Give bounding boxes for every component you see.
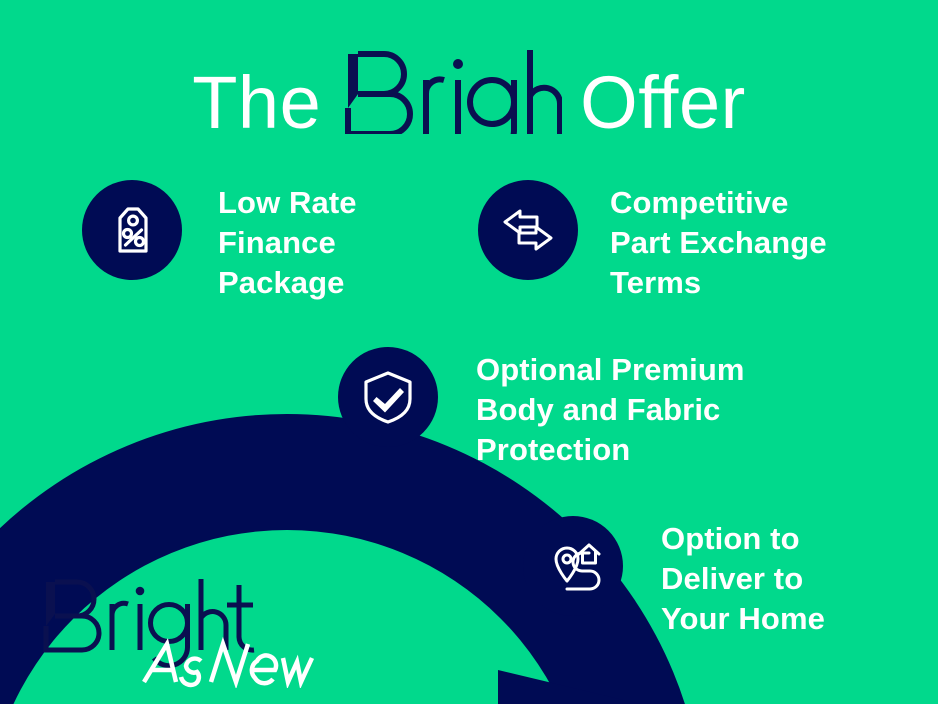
feature-item-part-exchange: Competitive Part Exchange Terms xyxy=(478,180,827,303)
feature-item-home-delivery: Option to Deliver to Your Home xyxy=(523,516,825,639)
feature-icon-badge xyxy=(338,347,438,447)
title-brand-wordmark xyxy=(340,48,562,139)
shield-check-icon xyxy=(360,368,416,426)
brand-logo xyxy=(40,578,340,688)
price-tag-percent-icon xyxy=(104,202,160,258)
feature-icon-badge xyxy=(478,180,578,280)
page-title: The xyxy=(0,42,938,140)
feature-item-low-rate-finance: Low Rate Finance Package xyxy=(82,180,357,303)
title-suffix: Offer xyxy=(580,66,746,140)
title-prefix: The xyxy=(192,66,321,140)
brand-logo-primary xyxy=(46,579,254,666)
exchange-arrows-icon xyxy=(499,201,557,259)
navy-wedge-shape xyxy=(498,670,640,704)
feature-label: Low Rate Finance Package xyxy=(218,180,357,303)
feature-label: Option to Deliver to Your Home xyxy=(661,516,825,639)
feature-label: Competitive Part Exchange Terms xyxy=(610,180,827,303)
feature-icon-badge xyxy=(523,516,623,616)
promo-graphic: The xyxy=(0,0,938,704)
feature-icon-badge xyxy=(82,180,182,280)
feature-label: Optional Premium Body and Fabric Protect… xyxy=(476,347,745,470)
feature-item-body-fabric-protection: Optional Premium Body and Fabric Protect… xyxy=(338,347,745,470)
delivery-route-home-icon xyxy=(543,537,603,595)
